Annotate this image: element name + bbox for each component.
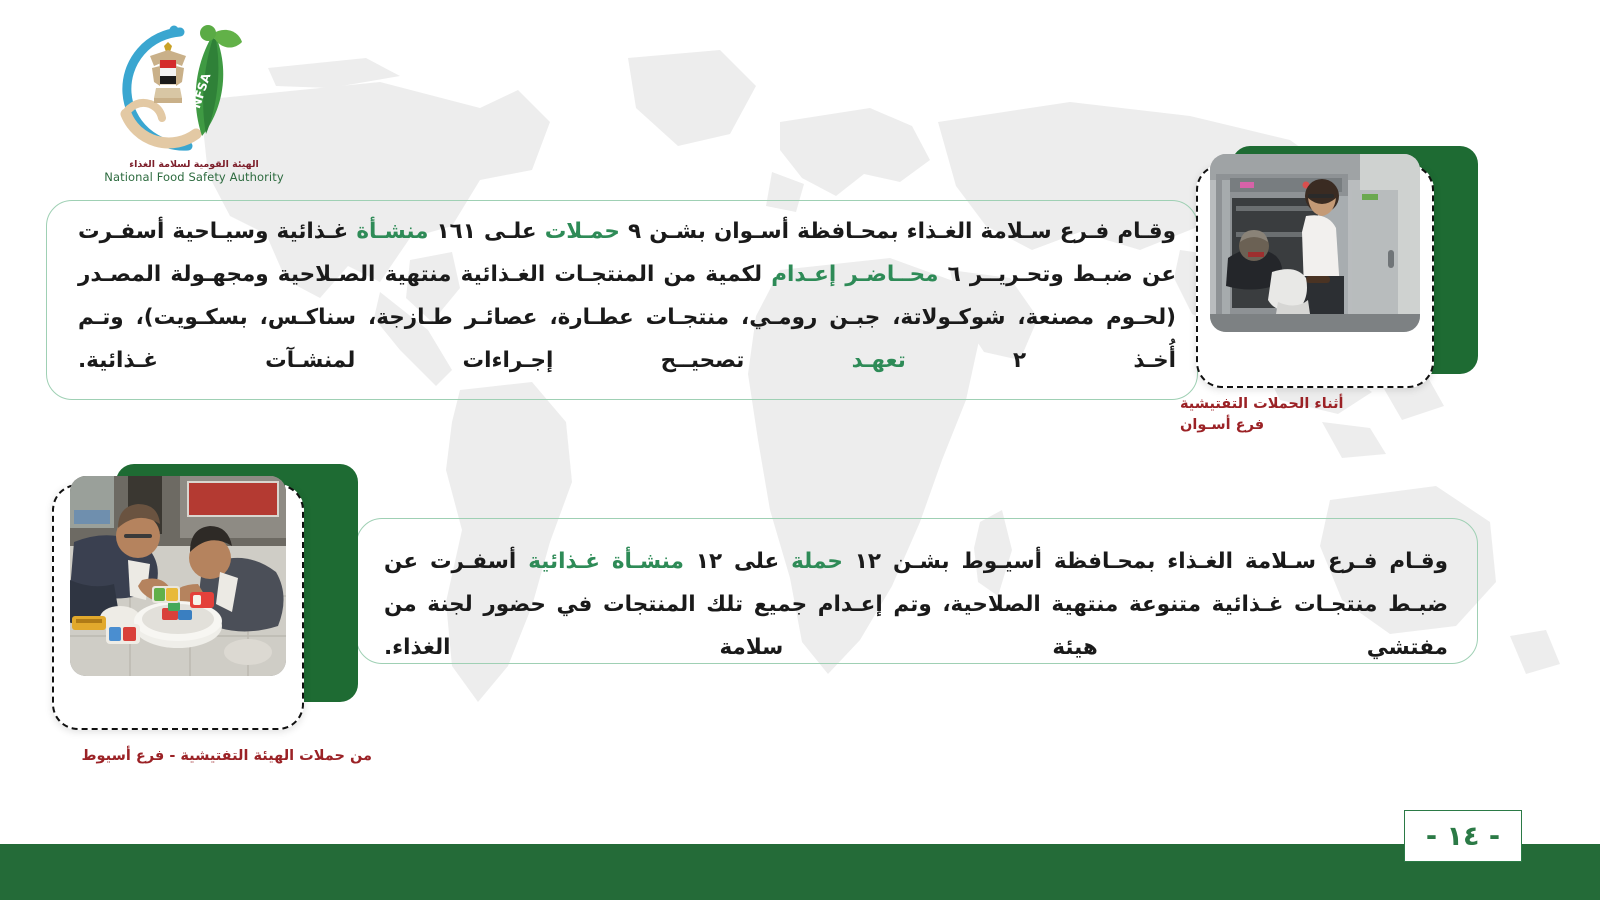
logo-wordmark: الهيئة القومية لسلامة الغذاء National Fo… xyxy=(62,160,312,185)
page-number-box: - ١٤ - xyxy=(1404,810,1522,862)
photo-assiut-inspection xyxy=(70,476,286,676)
text-run-1: حملة xyxy=(791,549,843,574)
text-run-1: حمـلات xyxy=(545,219,620,244)
text-run-8: تصحيــح إجـراءات لمنشـآت غـذائية. xyxy=(78,348,852,373)
slide-root: NFSA الهيئة القومية لسلامة الغذاء Nation… xyxy=(0,0,1600,900)
text-run-5: محــاضـر إعـدام xyxy=(771,262,938,287)
text-run-3: منشـأة xyxy=(356,219,428,244)
logo-english-name: National Food Safety Authority xyxy=(76,171,312,185)
text-run-0: وقـام فـرع سـلامة الغـذاء بمحـافظة أسيـو… xyxy=(843,549,1448,574)
text-run-7: تعهـد xyxy=(852,348,906,373)
paragraph-assiut: وقـام فـرع سـلامة الغـذاء بمحـافظة أسيـو… xyxy=(384,540,1448,669)
text-run-2: علـى ١٦١ xyxy=(428,219,544,244)
page-number: - ١٤ - xyxy=(1426,821,1500,852)
text-run-3: منشـأة غـذائية xyxy=(528,549,684,574)
nfsa-logo: NFSA الهيئة القومية لسلامة الغذاء Nation… xyxy=(62,18,312,200)
footer-green-bar xyxy=(0,844,1600,900)
photo-frame-aswan xyxy=(1196,140,1478,388)
text-run-2: على ١٢ xyxy=(684,549,791,574)
caption-assiut-line1: من حملات الهيئة التفتيشية - فرع أسيوط xyxy=(82,748,373,764)
caption-assiut: من حملات الهيئة التفتيشية - فرع أسيوط xyxy=(52,746,372,767)
caption-aswan: أثناء الحملات التفتيشية فرع أسـوان xyxy=(1180,394,1400,436)
photo-frame-assiut xyxy=(52,458,358,730)
paragraph-aswan: وقـام فـرع سـلامة الغـذاء بمحـافظة أسـوا… xyxy=(78,210,1176,382)
caption-aswan-line2: فرع أسـوان xyxy=(1180,415,1400,436)
photo-aswan-inspection xyxy=(1210,154,1420,332)
caption-aswan-line1: أثناء الحملات التفتيشية xyxy=(1180,396,1344,412)
text-run-0: وقـام فـرع سـلامة الغـذاء بمحـافظة أسـوا… xyxy=(620,219,1176,244)
nfsa-logo-mark: NFSA xyxy=(92,18,262,158)
